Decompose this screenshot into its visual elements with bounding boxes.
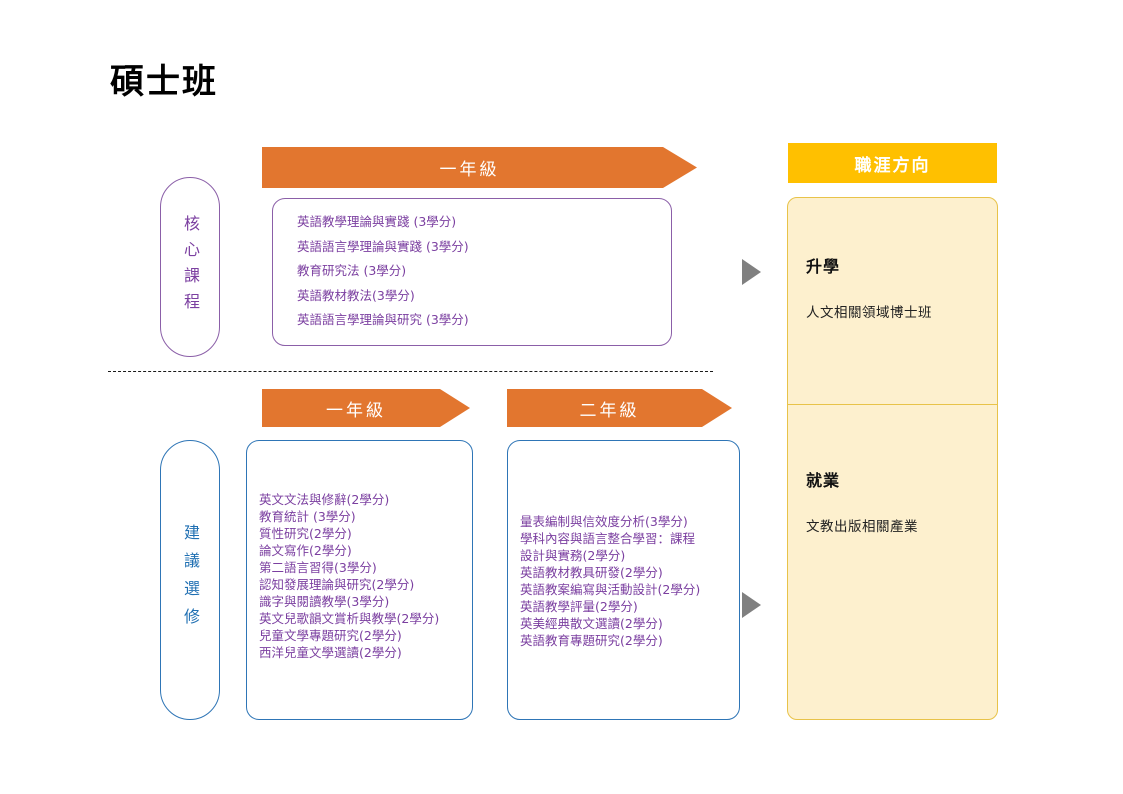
list-item: 英語語言學理論與研究 (3學分) (285, 314, 671, 327)
elective-year1-list-wrap: 英文文法與修辭(2學分) 教育統計 (3學分) 質性研究(2學分) 論文寫作(2… (259, 491, 439, 661)
banner-elective-year1: 一年級 (262, 389, 470, 427)
career-section-employment: 就業 文教出版相關產業 (788, 405, 997, 720)
list-item: 英語語言學理論與實踐 (3學分) (285, 241, 671, 254)
list-item: 教育研究法 (3學分) (285, 265, 671, 278)
career-section-description: 文教出版相關產業 (806, 515, 918, 535)
list-item: 英美經典散文選讀(2學分) (520, 615, 700, 632)
elective-year2-box: 量表編制與信效度分析(3學分) 學科內容與語言整合學習：課程 設計與實務(2學分… (507, 440, 740, 720)
slide-canvas: 碩士班 一年級 核心課程 英語教學理論與實踐 (3學分) 英語語言學理論與實踐 … (0, 0, 1123, 794)
list-item: 英語教材教具研發(2學分) (520, 564, 700, 581)
list-item: 西洋兒童文學選讀(2學分) (259, 644, 439, 661)
banner-core-year1: 一年級 (262, 147, 697, 188)
elective-year2-list-wrap: 量表編制與信效度分析(3學分) 學科內容與語言整合學習：課程 設計與實務(2學分… (520, 513, 700, 649)
list-item: 兒童文學專題研究(2學分) (259, 627, 439, 644)
list-item: 量表編制與信效度分析(3學分) (520, 513, 700, 530)
career-panel: 升學 人文相關領域博士班 就業 文教出版相關產業 (787, 197, 998, 720)
career-panel-header-label: 職涯方向 (855, 151, 931, 176)
core-courses-box: 英語教學理論與實踐 (3學分) 英語語言學理論與實踐 (3學分) 教育研究法 (… (272, 198, 672, 346)
career-section-description: 人文相關領域博士班 (806, 301, 932, 321)
banner-elective-year1-label: 一年級 (326, 396, 386, 421)
list-item: 英語教學評量(2學分) (520, 598, 700, 615)
core-courses-label-pill: 核心課程 (160, 177, 220, 357)
list-item: 英文兒歌韻文賞析與教學(2學分) (259, 610, 439, 627)
arrow-right-icon (742, 259, 761, 285)
elective-label-pill: 建議選修 (160, 440, 220, 720)
list-item: 英語教育專題研究(2學分) (520, 632, 700, 649)
list-item: 英語教案編寫與活動設計(2學分) (520, 581, 700, 598)
page-title: 碩士班 (110, 62, 218, 103)
banner-elective-year2: 二年級 (507, 389, 732, 427)
list-item: 論文寫作(2學分) (259, 542, 439, 559)
list-item: 質性研究(2學分) (259, 525, 439, 542)
elective-year1-box: 英文文法與修辭(2學分) 教育統計 (3學分) 質性研究(2學分) 論文寫作(2… (246, 440, 473, 720)
list-item: 設計與實務(2學分) (520, 547, 700, 564)
core-courses-list: 英語教學理論與實踐 (3學分) 英語語言學理論與實踐 (3學分) 教育研究法 (… (285, 216, 671, 327)
career-section-further-study: 升學 人文相關領域博士班 (788, 198, 997, 405)
list-item: 英語教材教法(3學分) (285, 290, 671, 303)
career-panel-header: 職涯方向 (788, 143, 997, 183)
career-section-title: 就業 (806, 467, 840, 491)
arrow-right-icon (742, 592, 761, 618)
banner-core-year1-label: 一年級 (440, 155, 500, 180)
career-section-title: 升學 (806, 253, 840, 277)
section-divider (108, 371, 713, 372)
list-item: 第二語言習得(3學分) (259, 559, 439, 576)
list-item: 認知發展理論與研究(2學分) (259, 576, 439, 593)
elective-label: 建議選修 (182, 524, 198, 636)
list-item: 英文文法與修辭(2學分) (259, 491, 439, 508)
elective-year1-list: 英文文法與修辭(2學分) 教育統計 (3學分) 質性研究(2學分) 論文寫作(2… (259, 491, 439, 661)
elective-year2-list: 量表編制與信效度分析(3學分) 學科內容與語言整合學習：課程 設計與實務(2學分… (520, 513, 700, 649)
banner-elective-year2-label: 二年級 (580, 396, 640, 421)
list-item: 英語教學理論與實踐 (3學分) (285, 216, 671, 229)
list-item: 識字與閱讀教學(3學分) (259, 593, 439, 610)
list-item: 學科內容與語言整合學習：課程 (520, 530, 700, 547)
core-courses-label: 核心課程 (182, 215, 198, 319)
list-item: 教育統計 (3學分) (259, 508, 439, 525)
